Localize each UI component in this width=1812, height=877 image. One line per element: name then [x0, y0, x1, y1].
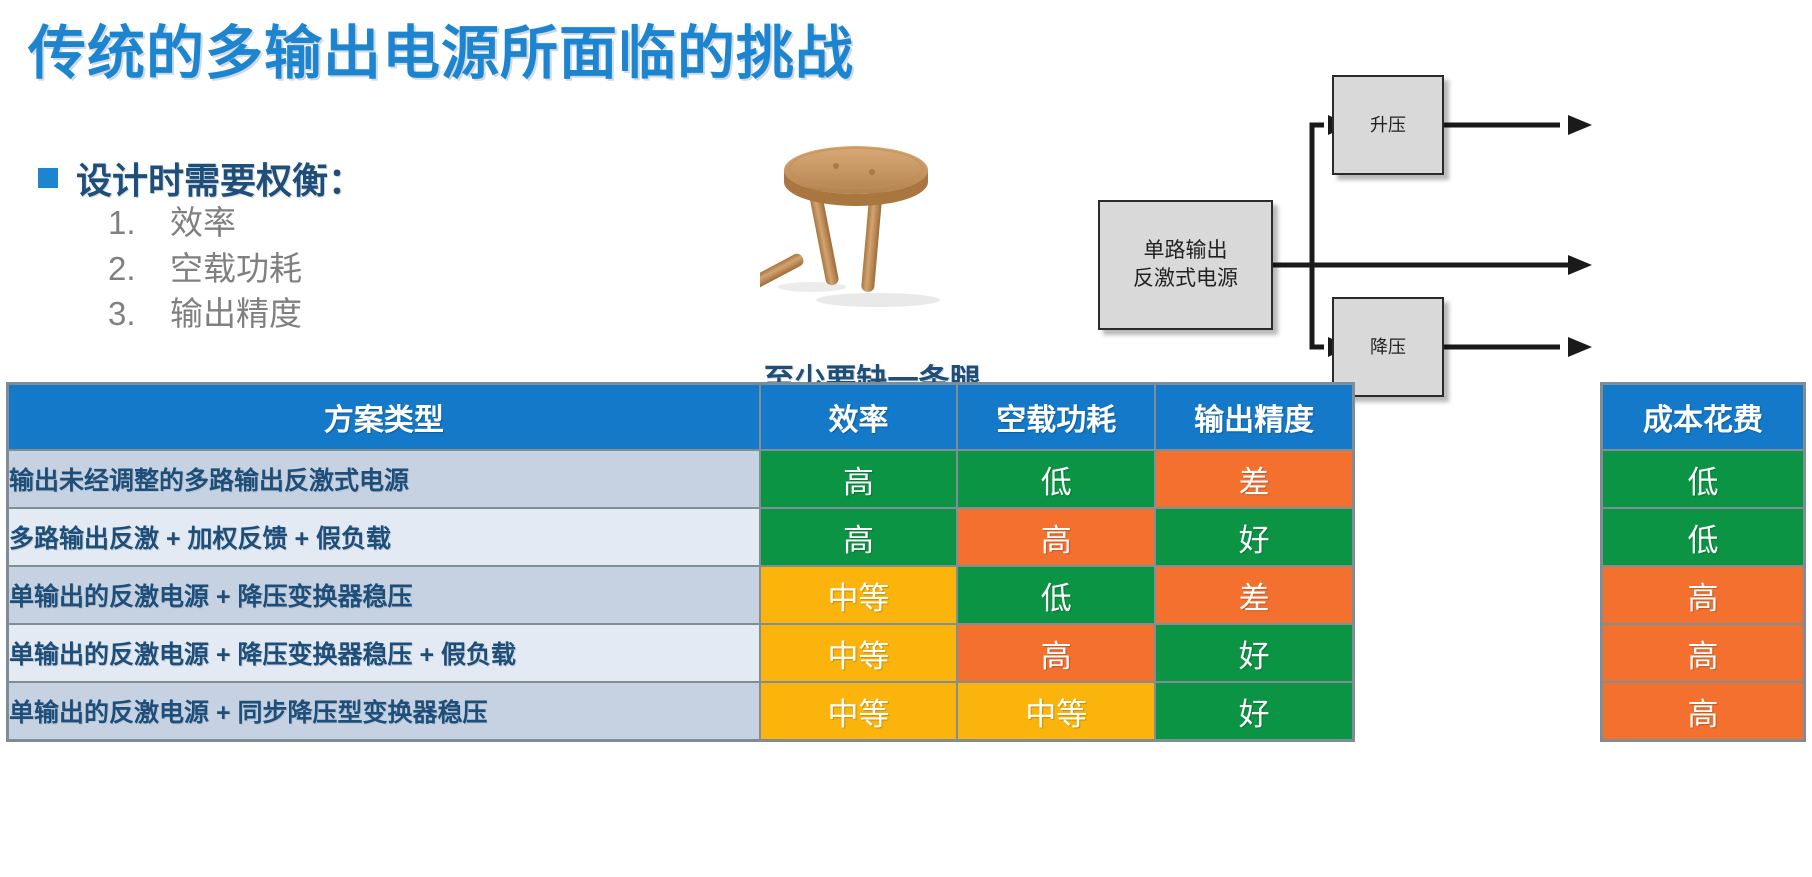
cell-cost: 低 — [1602, 508, 1804, 566]
column-header-efficiency: 效率 — [760, 384, 958, 450]
bullet-square-icon — [38, 168, 58, 188]
cost-table-row: 低 — [1602, 508, 1804, 566]
cell-cost: 高 — [1602, 682, 1804, 740]
stool-illustration — [760, 122, 980, 312]
cell-noload-power: 高 — [957, 508, 1155, 566]
list-item: 1. 效率 — [108, 200, 302, 246]
table-row: 单输出的反激电源 + 降压变换器稳压 中等 低 差 — [8, 566, 1353, 624]
cost-table-row: 高 — [1602, 682, 1804, 740]
cell-output-accuracy: 好 — [1155, 508, 1353, 566]
cell-efficiency: 高 — [760, 450, 958, 508]
cell-plan: 单输出的反激电源 + 降压变换器稳压 + 假负载 — [8, 624, 760, 682]
cell-plan: 输出未经调整的多路输出反激式电源 — [8, 450, 760, 508]
cell-efficiency: 高 — [760, 508, 958, 566]
cell-efficiency: 中等 — [760, 682, 958, 740]
table-row: 多路输出反激 + 加权反馈 + 假负载 高 高 好 — [8, 508, 1353, 566]
cell-cost: 低 — [1602, 450, 1804, 508]
cell-efficiency: 中等 — [760, 624, 958, 682]
list-item-number: 2. — [108, 246, 148, 292]
cell-noload-power: 中等 — [957, 682, 1155, 740]
diagram-box-buck: 降压 — [1332, 297, 1444, 397]
list-item-number: 1. — [108, 200, 148, 246]
diagram-box-line2: 反激式电源 — [1133, 267, 1238, 290]
cost-table: 成本花费 低 低 高 高 高 — [1602, 384, 1804, 740]
diagram-box-boost: 升压 — [1332, 75, 1444, 175]
cell-noload-power: 低 — [957, 450, 1155, 508]
cell-cost: 高 — [1602, 566, 1804, 624]
bullet-heading-row: 设计时需要权衡： — [38, 152, 364, 204]
cost-table-header-row: 成本花费 — [1602, 384, 1804, 450]
cost-table-row: 高 — [1602, 624, 1804, 682]
list-item-label: 效率 — [170, 200, 236, 246]
column-header-plan: 方案类型 — [8, 384, 760, 450]
cell-plan: 单输出的反激电源 + 同步降压型变换器稳压 — [8, 682, 760, 740]
cell-output-accuracy: 差 — [1155, 566, 1353, 624]
cell-noload-power: 高 — [957, 624, 1155, 682]
cell-noload-power: 低 — [957, 566, 1155, 624]
column-header-cost: 成本花费 — [1602, 384, 1804, 450]
cell-cost: 高 — [1602, 624, 1804, 682]
cell-output-accuracy: 好 — [1155, 682, 1353, 740]
table-header-row: 方案类型 效率 空载功耗 输出精度 — [8, 384, 1353, 450]
table-row: 单输出的反激电源 + 同步降压型变换器稳压 中等 中等 好 — [8, 682, 1353, 740]
list-item: 3. 输出精度 — [108, 291, 302, 337]
tradeoff-list: 1. 效率 2. 空载功耗 3. 输出精度 — [108, 200, 302, 337]
comparison-table: 方案类型 效率 空载功耗 输出精度 输出未经调整的多路输出反激式电源 高 低 差… — [8, 384, 1353, 740]
table-row: 输出未经调整的多路输出反激式电源 高 低 差 — [8, 450, 1353, 508]
table-row: 单输出的反激电源 + 降压变换器稳压 + 假负载 中等 高 好 — [8, 624, 1353, 682]
cell-efficiency: 中等 — [760, 566, 958, 624]
diagram-box-line1: 单路输出 — [1144, 239, 1228, 262]
list-item: 2. 空载功耗 — [108, 246, 302, 292]
column-header-output-accuracy: 输出精度 — [1155, 384, 1353, 450]
block-diagram: 单路输出 反激式电源 升压 降压 — [1080, 55, 1810, 365]
cell-output-accuracy: 差 — [1155, 450, 1353, 508]
column-header-noload-power: 空载功耗 — [957, 384, 1155, 450]
page-title: 传统的多输出电源所面临的挑战 — [28, 6, 854, 90]
three-legged-stool-icon — [760, 122, 980, 312]
list-item-label: 输出精度 — [170, 291, 302, 337]
cell-output-accuracy: 好 — [1155, 624, 1353, 682]
list-item-label: 空载功耗 — [170, 246, 302, 292]
diagram-box-single-output-flyback: 单路输出 反激式电源 — [1098, 200, 1273, 330]
cell-plan: 单输出的反激电源 + 降压变换器稳压 — [8, 566, 760, 624]
bullet-heading-label: 设计时需要权衡： — [76, 152, 364, 204]
cost-table-row: 高 — [1602, 566, 1804, 624]
list-item-number: 3. — [108, 291, 148, 337]
cost-table-row: 低 — [1602, 450, 1804, 508]
slide-canvas: 传统的多输出电源所面临的挑战 设计时需要权衡： 1. 效率 2. 空载功耗 3.… — [0, 0, 1812, 877]
cell-plan: 多路输出反激 + 加权反馈 + 假负载 — [8, 508, 760, 566]
